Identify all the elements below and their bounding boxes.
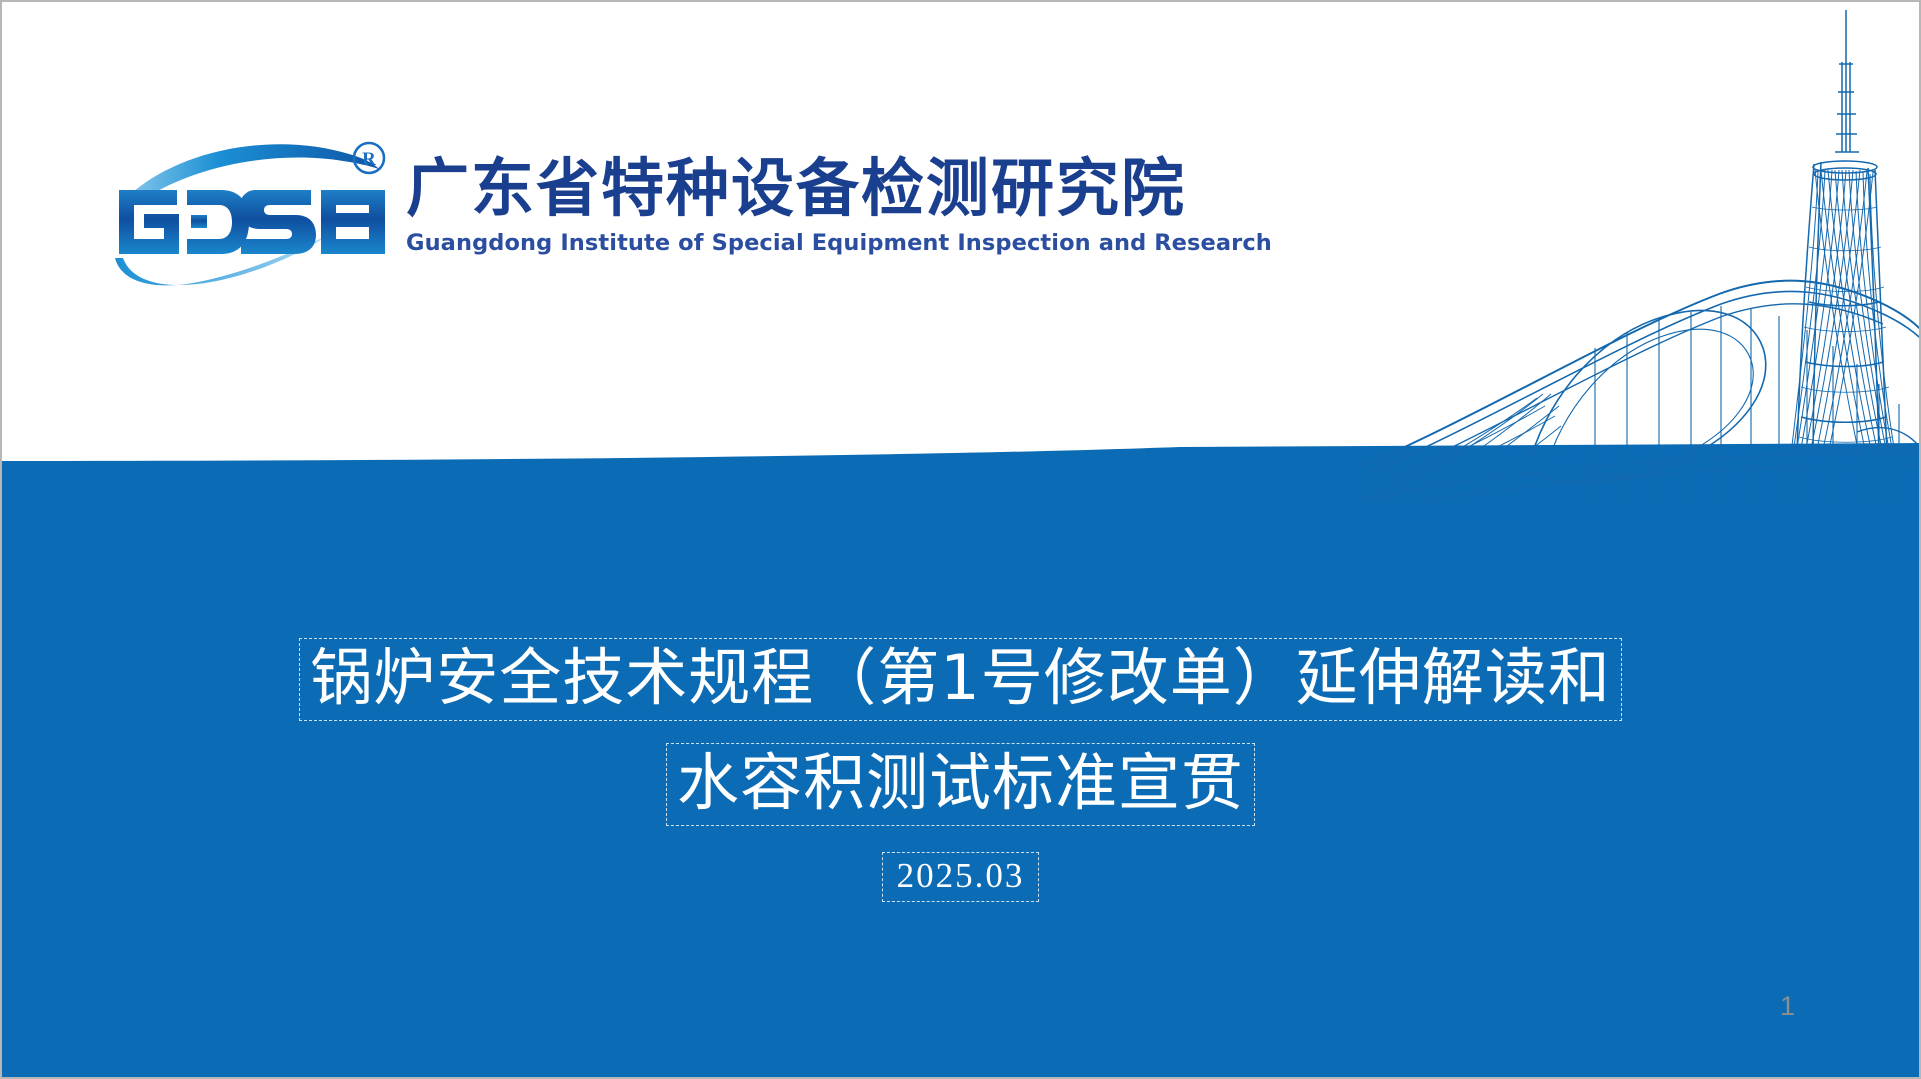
institute-logo: R 广东省特种设备检测研究院 Guangdong Institute of Sp…: [107, 130, 1272, 295]
slide-title-line-1: 锅炉安全技术规程（第1号修改单）延伸解读和: [299, 638, 1621, 721]
title-area: 锅炉安全技术规程（第1号修改单）延伸解读和 水容积测试标准宣贯 2025.03: [2, 638, 1919, 902]
logo-text-block: 广东省特种设备检测研究院 Guangdong Institute of Spec…: [406, 130, 1272, 256]
organization-name-en: Guangdong Institute of Special Equipment…: [406, 230, 1272, 256]
logo-wordmark-letters: [119, 190, 385, 254]
presentation-slide: R 广东省特种设备检测研究院 Guangdong Institute of Sp…: [0, 0, 1921, 1079]
gdsei-logo-mark: R: [107, 130, 392, 295]
organization-name-cn: 广东省特种设备检测研究院: [406, 156, 1272, 223]
slide-date: 2025.03: [882, 852, 1040, 902]
canton-tower-icon: [1359, 2, 1919, 502]
svg-text:R: R: [362, 149, 376, 170]
page-number: 1: [1780, 991, 1795, 1022]
slide-title-line-2: 水容积测试标准宣贯: [666, 743, 1255, 826]
